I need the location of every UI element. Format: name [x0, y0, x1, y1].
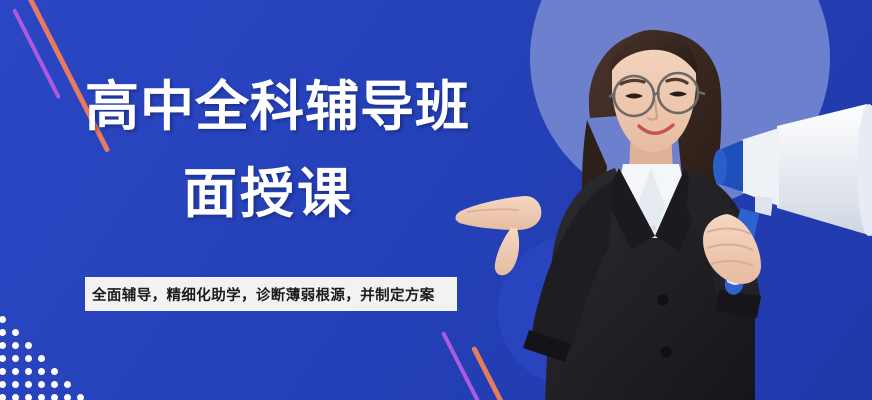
tagline-text: 全面辅导，精细化助学，诊断薄弱根源，并制定方案	[92, 284, 435, 305]
headline-block: 高中全科辅导班 面授课 全面辅导，精细化助学，诊断薄弱根源，并制定方案	[0, 0, 520, 400]
page-title: 高中全科辅导班	[85, 78, 470, 136]
page-subtitle: 面授课	[183, 165, 354, 223]
course-promo-banner: 高中全科辅导班 面授课 全面辅导，精细化助学，诊断薄弱根源，并制定方案	[0, 0, 872, 400]
tagline-band: 全面辅导，精细化助学，诊断薄弱根源，并制定方案	[85, 277, 457, 311]
